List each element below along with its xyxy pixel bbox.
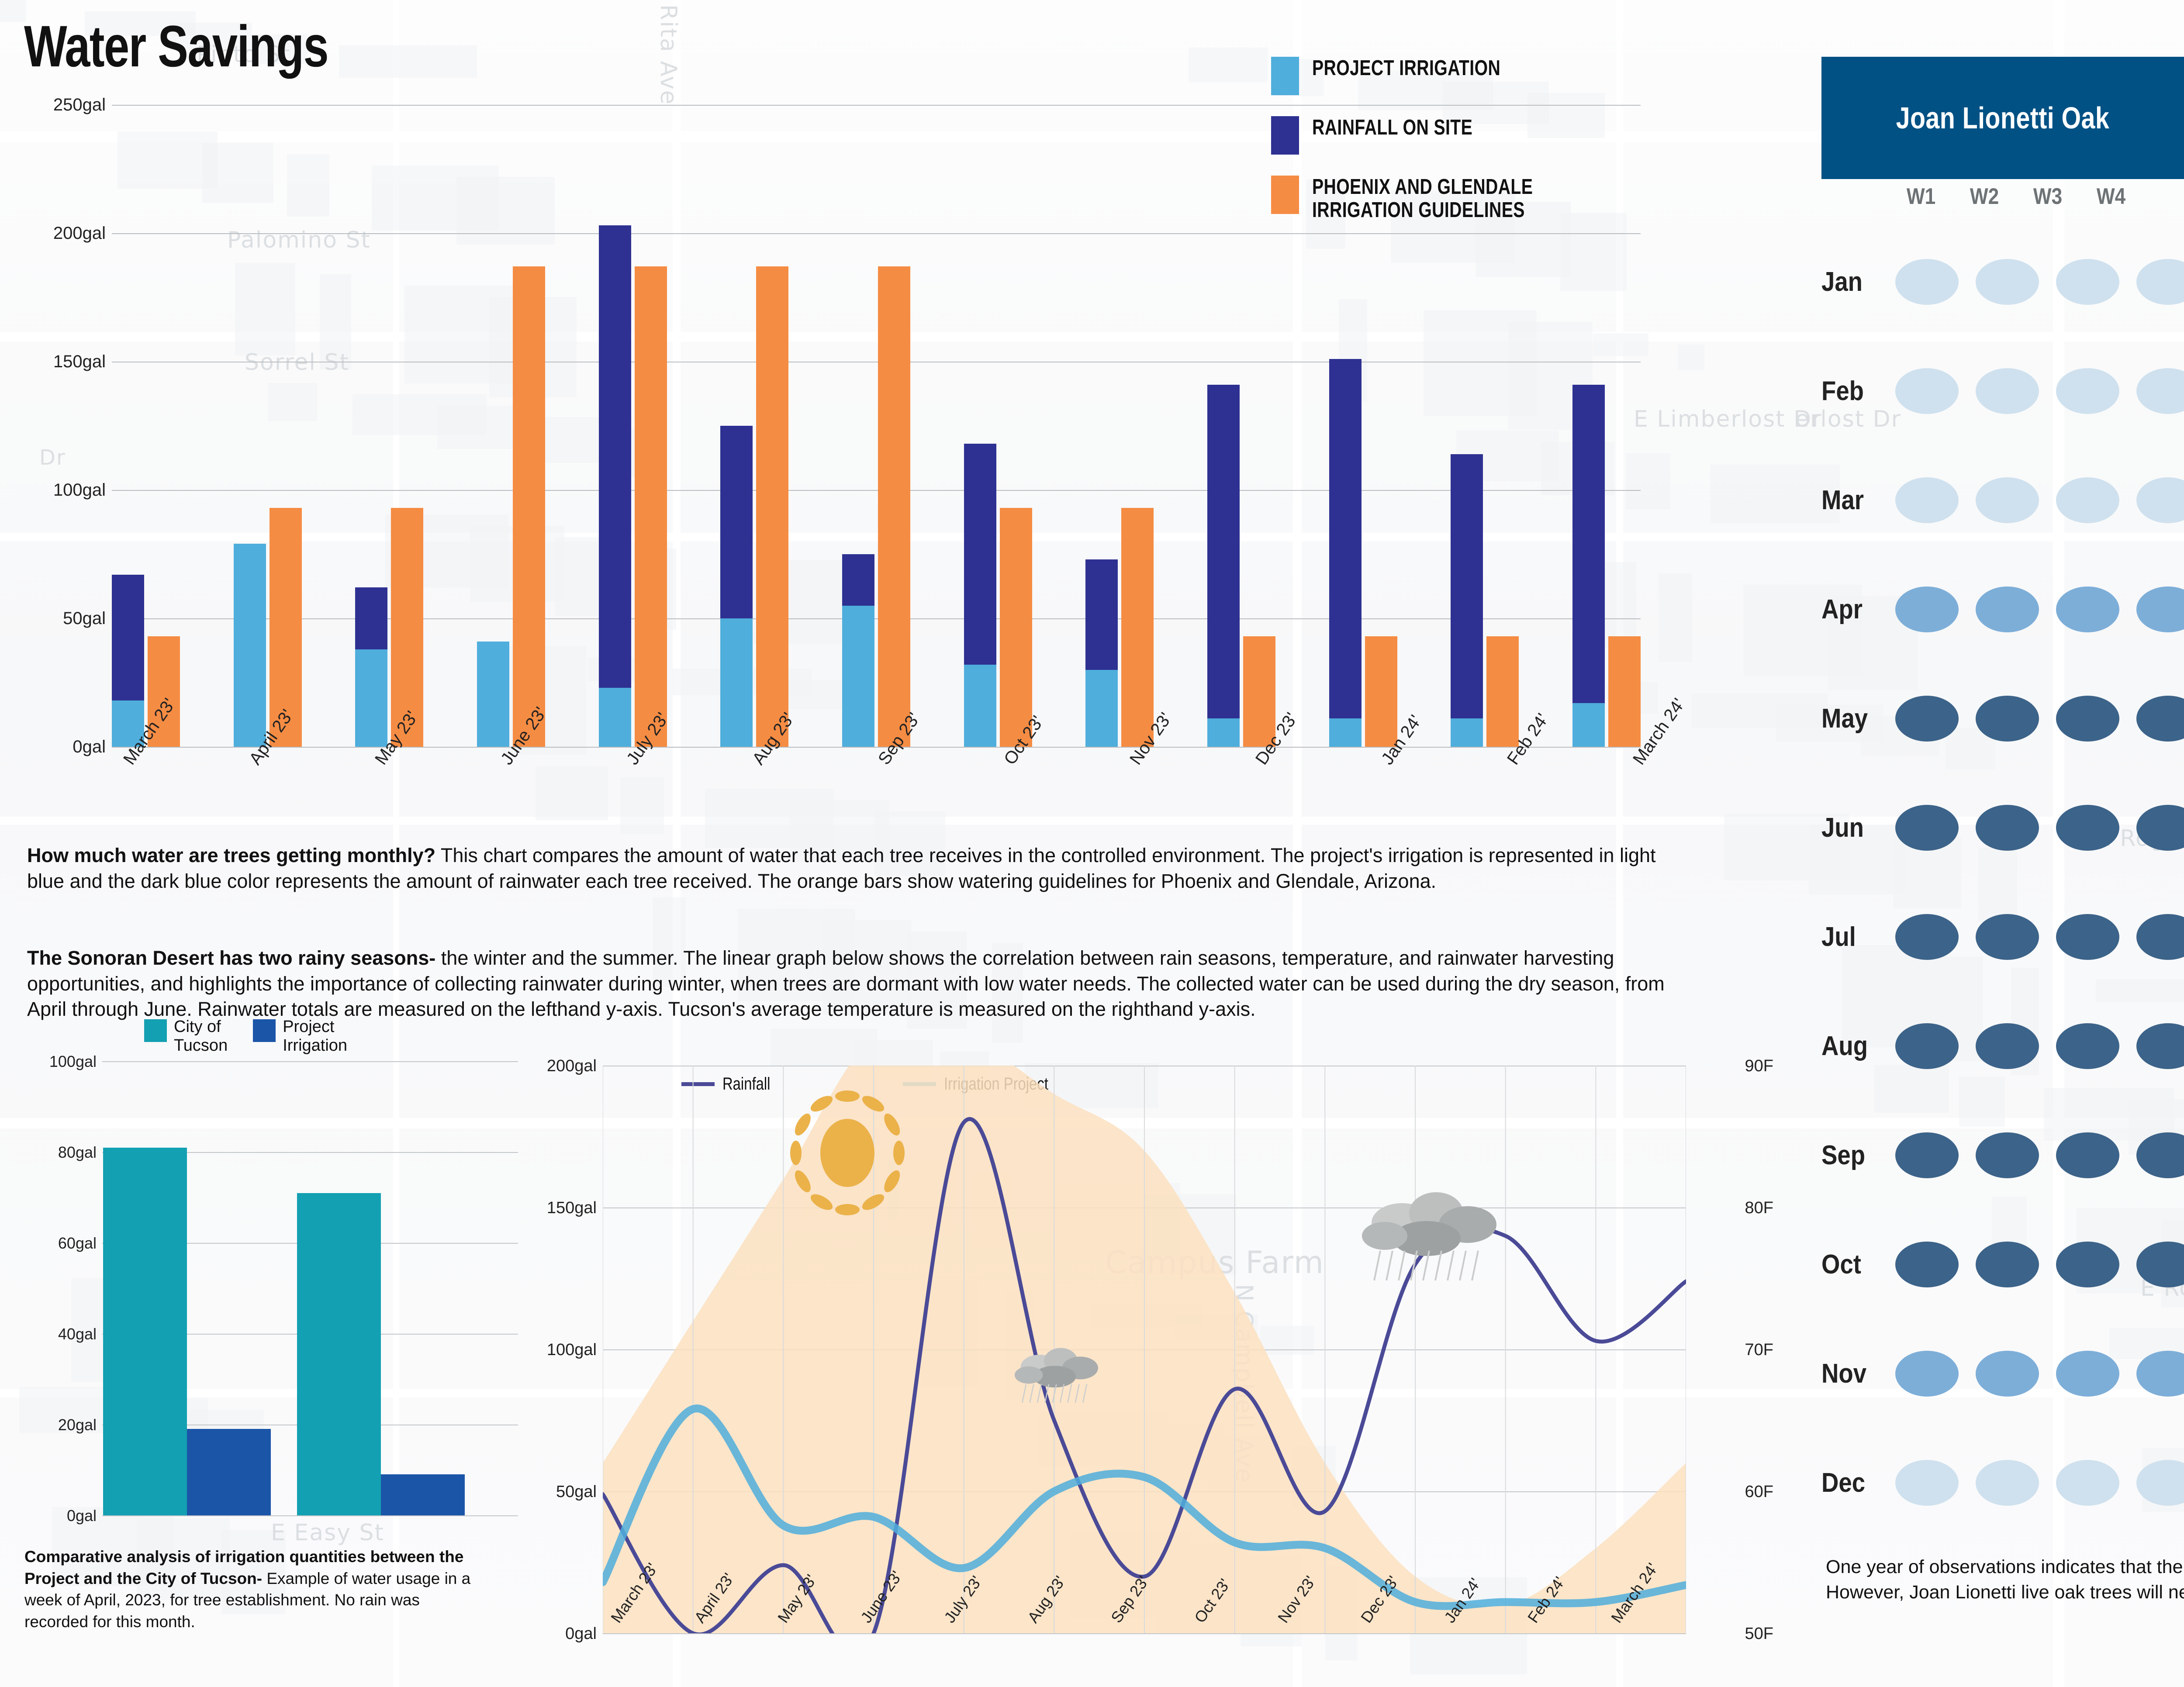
month-row: Oct — [1821, 1210, 2184, 1319]
watering-frequency-dot[interactable] — [2056, 368, 2119, 414]
gridline — [102, 1515, 518, 1516]
right-panel: Joan Lionetti Oak Canyon Hackberry Deser… — [1813, 0, 2184, 1687]
paragraph-2-lead: The Sonoran Desert has two rainy seasons… — [27, 947, 435, 969]
y-left-tick-label: 150gal — [515, 1199, 597, 1218]
watering-frequency-dot[interactable] — [1895, 259, 1959, 305]
bar-segment-project-irrigation — [355, 649, 387, 747]
watering-frequency-dot[interactable] — [2056, 477, 2119, 523]
legend-swatch — [144, 1019, 167, 1042]
y-right-tick-label: 80F — [1692, 1199, 1773, 1218]
bar-guidelines — [1000, 508, 1032, 747]
watering-frequency-dot[interactable] — [1895, 1460, 1959, 1506]
watering-frequency-dot[interactable] — [2136, 586, 2184, 632]
watering-frequency-dot[interactable] — [2136, 696, 2184, 742]
watering-frequency-dot[interactable] — [2136, 914, 2184, 960]
month-label: Oct — [1821, 1249, 1879, 1280]
y-axis-tick-label: 50gal — [24, 609, 106, 628]
watering-frequency-dot[interactable] — [1895, 477, 1959, 523]
watering-frequency-dot[interactable] — [1895, 586, 1959, 632]
legend-item-0: PROJECT IRRIGATION — [1271, 57, 1647, 95]
y-axis-tick-label: 150gal — [24, 352, 106, 372]
watering-frequency-dot[interactable] — [1895, 368, 1959, 414]
month-row: Sep — [1821, 1101, 2184, 1210]
stacked-bar-tree — [842, 554, 874, 747]
paragraph-rainy-seasons: The Sonoran Desert has two rainy seasons… — [27, 945, 1674, 1022]
x-axis-tick: Nov 23' — [1118, 751, 1227, 856]
legend-swatch — [253, 1019, 276, 1042]
x-axis-tick: March 24' — [1621, 751, 1730, 856]
gridline — [112, 747, 1641, 748]
stacked-bar-tree — [964, 444, 996, 747]
stacked-bar-tree — [1572, 385, 1605, 747]
page-title: Water Savings — [24, 13, 328, 80]
bar-segment-project-irrigation — [1085, 670, 1118, 747]
tree-header-0[interactable]: Joan Lionetti Oak — [1821, 57, 2184, 179]
watering-frequency-dot[interactable] — [2056, 1460, 2119, 1506]
bar-city-of-tucson — [103, 1148, 187, 1515]
bar-segment-project-irrigation — [1572, 703, 1605, 747]
bar-segment-rainfall — [964, 444, 996, 665]
y-axis-tick-label: 40gal — [24, 1325, 97, 1343]
bar-group — [720, 105, 788, 747]
tree-column-cells — [1887, 1132, 2184, 1178]
month-row: Feb — [1821, 336, 2184, 445]
watering-frequency-dot[interactable] — [1895, 805, 1959, 851]
bar-segment-project-irrigation — [1207, 718, 1240, 747]
y-axis-tick-label: 100gal — [24, 1052, 97, 1071]
watering-frequency-dot[interactable] — [1976, 586, 2039, 632]
watering-frequency-dot[interactable] — [2056, 914, 2119, 960]
bar-segment-project-irrigation — [1451, 718, 1483, 747]
small-chart-legend: City of Tucson Project Irrigation — [144, 1018, 347, 1055]
watering-frequency-dot[interactable] — [1895, 1023, 1959, 1069]
month-row: Jun — [1821, 773, 2184, 882]
bar-group — [1085, 105, 1154, 747]
watering-frequency-dot[interactable] — [2136, 368, 2184, 414]
bar-segment-rainfall — [1207, 385, 1240, 718]
tucson-vs-project-bar-chart: 100gal80gal60gal40gal20gal0gal — [24, 1061, 518, 1515]
watering-frequency-dot[interactable] — [1976, 914, 2039, 960]
bar-segment-project-irrigation — [964, 665, 996, 747]
small-legend-item-0: City of Tucson — [144, 1018, 228, 1055]
x-axis-tick: June 23' — [489, 751, 598, 856]
watering-frequency-dot[interactable] — [2056, 259, 2119, 305]
line-chart-svg — [603, 1066, 1686, 1633]
y-left-tick-label: 50gal — [515, 1483, 597, 1501]
bar-group — [1572, 105, 1641, 747]
legend-swatch — [1271, 57, 1299, 95]
paragraph-1-lead: How much water are trees getting monthly… — [27, 844, 435, 866]
watering-frequency-dot[interactable] — [1895, 914, 1959, 960]
y-right-tick-label: 50F — [1692, 1625, 1773, 1643]
tree-column-cells — [1887, 1351, 2184, 1397]
bar-guidelines — [1486, 636, 1519, 747]
month-row: Mar — [1821, 445, 2184, 555]
y-right-tick-label: 90F — [1692, 1057, 1773, 1076]
stacked-bar-tree — [599, 225, 631, 747]
bar-group — [964, 105, 1032, 747]
month-row: Dec — [1821, 1428, 2184, 1537]
month-label: Apr — [1821, 594, 1879, 625]
x-axis-tick: Jan 24' — [1370, 751, 1478, 856]
watering-frequency-dot[interactable] — [2056, 1023, 2119, 1069]
month-row: Nov — [1821, 1319, 2184, 1428]
watering-frequency-dot[interactable] — [1976, 696, 2039, 742]
x-axis-tick: Dec 23' — [1244, 751, 1352, 856]
y-axis-tick-label: 250gal — [24, 95, 106, 115]
month-label: Jan — [1821, 266, 1879, 297]
legend-label: City of Tucson — [174, 1018, 228, 1055]
watering-frequency-dot[interactable] — [2136, 477, 2184, 523]
month-row: Apr — [1821, 555, 2184, 664]
conclusion-text: One year of observations indicates that … — [1826, 1555, 2184, 1605]
month-row: Aug — [1821, 991, 2184, 1101]
watering-frequency-dot[interactable] — [1895, 1132, 1959, 1178]
watering-frequency-dot[interactable] — [1895, 1242, 1959, 1287]
legend-label: Project Irrigation — [283, 1018, 347, 1055]
monthly-bar-chart-x-labels: March 23'April 23'May 23'June 23'July 23… — [112, 751, 1730, 856]
month-row: Jan — [1821, 227, 2184, 336]
legend-label: PROJECT IRRIGATION — [1312, 57, 1500, 80]
week-header-row: W1W2W3W4W1W2W3W4W1W2W3W4W1W2W3W4 — [1821, 183, 2184, 210]
y-left-tick-label: 0gal — [515, 1625, 597, 1643]
x-axis-tick: Feb 24' — [1496, 751, 1604, 856]
bar-segment-rainfall — [1085, 559, 1118, 670]
watering-frequency-dot[interactable] — [2056, 805, 2119, 851]
week-label: W3 — [2033, 183, 2062, 210]
watering-frequency-dot[interactable] — [2056, 1242, 2119, 1287]
month-label: Sep — [1821, 1140, 1879, 1171]
watering-frequency-dot[interactable] — [1976, 1242, 2039, 1287]
stacked-bar-tree — [355, 587, 387, 747]
bar-guidelines — [756, 266, 788, 747]
month-label: Mar — [1821, 485, 1879, 516]
week-label: W1 — [1906, 183, 1935, 210]
tree-column-cells — [1887, 477, 2184, 523]
bar-segment-rainfall — [112, 575, 144, 700]
month-label: Nov — [1821, 1358, 1879, 1389]
y-left-tick-label: 100gal — [515, 1341, 597, 1359]
watering-frequency-dot[interactable] — [2056, 1351, 2119, 1397]
watering-frequency-grid: Jan Feb Mar Apr May Jun Jul Aug Sep Oct — [1821, 227, 2184, 1537]
bar-segment-rainfall — [720, 426, 753, 618]
watering-frequency-dot[interactable] — [1976, 1023, 2039, 1069]
tree-column-cells — [1887, 805, 2184, 851]
bar-guidelines — [878, 266, 910, 747]
bar-segment-project-irrigation — [599, 688, 631, 747]
x-axis-tick: April 23' — [238, 751, 346, 856]
bar-segment-rainfall — [842, 554, 874, 606]
watering-frequency-dot[interactable] — [1976, 368, 2039, 414]
watering-frequency-dot[interactable] — [2056, 696, 2119, 742]
bar-segment-rainfall — [1572, 385, 1605, 703]
tree-column-cells — [1887, 1460, 2184, 1506]
y-axis-tick-label: 60gal — [24, 1234, 97, 1252]
month-row: May — [1821, 664, 2184, 773]
bar-segment-rainfall — [1329, 359, 1362, 718]
watering-frequency-dot[interactable] — [2056, 586, 2119, 632]
x-axis-tick: Sep 23' — [867, 751, 975, 856]
tree-column-cells — [1887, 259, 2184, 305]
paragraph-monthly-water: How much water are trees getting monthly… — [27, 843, 1674, 894]
month-label: Feb — [1821, 376, 1879, 407]
watering-frequency-dot[interactable] — [2136, 1023, 2184, 1069]
watering-frequency-dot[interactable] — [1976, 1460, 2039, 1506]
gridline — [603, 1633, 1686, 1634]
watering-frequency-dot[interactable] — [2136, 259, 2184, 305]
small-bar-plot-area — [103, 1061, 518, 1515]
bar-guidelines — [1365, 636, 1397, 747]
stacked-bar-tree — [1329, 359, 1362, 747]
x-axis-tick: May 23' — [363, 751, 472, 856]
watering-frequency-dot[interactable] — [2136, 805, 2184, 851]
bar-group — [355, 105, 423, 747]
small-legend-item-1: Project Irrigation — [253, 1018, 347, 1055]
bar-group — [477, 105, 545, 747]
bar-guidelines — [1608, 636, 1641, 747]
y-right-tick-label: 60F — [1692, 1483, 1773, 1501]
month-label: Jun — [1821, 812, 1879, 843]
watering-frequency-dot[interactable] — [2136, 1460, 2184, 1506]
y-axis-tick-label: 0gal — [24, 1507, 97, 1525]
watering-frequency-dot[interactable] — [2056, 1132, 2119, 1178]
bar-group — [599, 105, 667, 747]
bar-group — [1329, 105, 1397, 747]
bar-segment-project-irrigation — [1329, 718, 1362, 747]
watering-frequency-dot[interactable] — [1976, 805, 2039, 851]
infographic-page: Water Savings PROJECT IRRIGATION RAINFAL… — [0, 0, 2184, 1687]
month-label: May — [1821, 703, 1879, 734]
watering-frequency-dot[interactable] — [1895, 1351, 1959, 1397]
bar-segment-rainfall — [1451, 454, 1483, 719]
bar-segment-rainfall — [599, 225, 631, 687]
bar-project-irrigation — [381, 1474, 465, 1515]
watering-frequency-dot[interactable] — [1976, 477, 2039, 523]
tree-column-cells — [1887, 696, 2184, 742]
watering-frequency-dot[interactable] — [1976, 1351, 2039, 1397]
tree-column-cells — [1887, 1023, 2184, 1069]
bar-group — [234, 105, 302, 747]
watering-frequency-dot[interactable] — [2136, 1132, 2184, 1178]
stacked-bar-tree — [1207, 385, 1240, 747]
month-label: Jul — [1821, 921, 1879, 952]
bar-segment-project-irrigation — [720, 618, 753, 747]
month-label: Dec — [1821, 1467, 1879, 1498]
stacked-bar-tree — [234, 544, 266, 747]
x-axis-tick: Aug 23' — [741, 751, 849, 856]
bar-plot-area — [112, 105, 1641, 747]
rainfall-temperature-line-chart: 200gal90F150gal80F100gal70F50gal60F0gal5… — [515, 1066, 1773, 1633]
bar-guidelines — [635, 266, 667, 747]
left-column: Water Savings PROJECT IRRIGATION RAINFAL… — [0, 0, 1773, 1687]
week-label: W4 — [2096, 183, 2125, 210]
stacked-bar-tree — [477, 642, 509, 747]
watering-frequency-dot[interactable] — [2136, 1351, 2184, 1397]
y-axis-tick-label: 200gal — [24, 224, 106, 243]
watering-frequency-dot[interactable] — [1895, 696, 1959, 742]
y-axis-tick-label: 80gal — [24, 1143, 97, 1162]
bar-group — [842, 105, 910, 747]
bar-group — [1207, 105, 1275, 747]
stacked-bar-tree — [1451, 454, 1483, 747]
y-axis-tick-label: 100gal — [24, 480, 106, 500]
small-chart-caption: Comparative analysis of irrigation quant… — [24, 1546, 487, 1632]
y-axis-tick-label: 0gal — [24, 737, 106, 757]
bar-group — [112, 105, 180, 747]
rain-cloud-icon — [1362, 1192, 1496, 1280]
stacked-bar-tree — [720, 426, 753, 747]
monthly-water-bar-chart: 250gal200gal150gal100gal50gal0gal — [24, 105, 1667, 747]
bar-guidelines — [513, 266, 545, 747]
tree-name-label: Joan Lionetti Oak — [1896, 100, 2110, 135]
tree-column-cells — [1887, 1242, 2184, 1287]
bar-segment-project-irrigation — [477, 642, 509, 747]
bar-segment-rainfall — [355, 587, 387, 649]
week-label: W2 — [1970, 183, 1998, 210]
bar-city-of-tucson — [297, 1193, 381, 1515]
tree-headers: Joan Lionetti Oak Canyon Hackberry Deser… — [1821, 57, 2184, 179]
watering-frequency-dot[interactable] — [1976, 259, 2039, 305]
y-left-tick-label: 200gal — [515, 1057, 597, 1076]
x-axis-tick: July 23' — [615, 751, 723, 856]
bar-segment-project-irrigation — [234, 544, 266, 747]
month-row: Jul — [1821, 882, 2184, 991]
stacked-bar-tree — [112, 575, 144, 747]
tree-column-cells — [1887, 914, 2184, 960]
watering-frequency-dot[interactable] — [1976, 1132, 2039, 1178]
bar-segment-project-irrigation — [842, 606, 874, 747]
y-axis-tick-label: 20gal — [24, 1416, 97, 1434]
bar-project-irrigation — [187, 1429, 271, 1515]
tree-column-cells — [1887, 586, 2184, 632]
month-label: Aug — [1821, 1031, 1879, 1062]
week-labels-0: W1W2W3W4 — [1821, 183, 2184, 210]
bar-group — [1451, 105, 1519, 747]
bar-guidelines — [1121, 508, 1154, 747]
y-right-tick-label: 70F — [1692, 1341, 1773, 1359]
stacked-bar-tree — [1085, 559, 1118, 747]
x-axis-tick: Oct 23' — [992, 751, 1101, 856]
tree-column-cells — [1887, 368, 2184, 414]
x-axis-tick: March 23' — [112, 751, 220, 856]
watering-frequency-dot[interactable] — [2136, 1242, 2184, 1287]
